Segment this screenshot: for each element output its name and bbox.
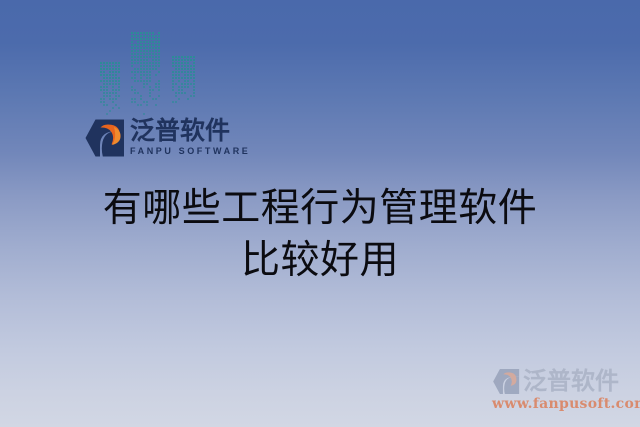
brand-logo: 泛普软件 FANPU SOFTWARE: [84, 116, 244, 166]
brand-logo-text: 泛普软件 FANPU SOFTWARE: [130, 116, 250, 157]
fanpu-hexagon-mark-icon: [84, 118, 128, 158]
page-title-line-1: 有哪些工程行为管理软件: [0, 183, 640, 235]
cityscape-tower: [131, 32, 163, 118]
pixel-cityscape-icon: [98, 28, 198, 118]
slide-canvas: 泛普软件 FANPU SOFTWARE 有哪些工程行为管理软件 比较好用 泛普软…: [0, 0, 640, 427]
page-title: 有哪些工程行为管理软件 比较好用: [0, 183, 640, 287]
watermark-url: www.fanpusoft.com: [492, 396, 640, 412]
watermark: 泛普软件 www.fanpusoft.com: [490, 365, 634, 421]
brand-name-cn: 泛普软件: [130, 116, 250, 146]
watermark-brand-name: 泛普软件: [523, 366, 619, 396]
brand-name-en: FANPU SOFTWARE: [130, 145, 250, 157]
cityscape-tower: [172, 56, 196, 118]
cityscape-tower: [100, 62, 122, 118]
watermark-hexagon-mark-icon: [492, 368, 522, 395]
page-title-line-2: 比较好用: [0, 235, 640, 287]
